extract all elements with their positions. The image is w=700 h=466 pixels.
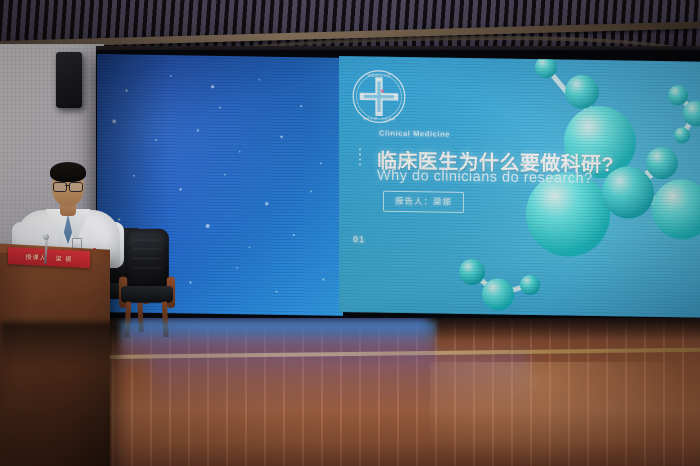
hospital-emblem-logo: 安徽医科大学 滁州市第一人民医院 — [351, 68, 407, 125]
slide-title-english: Why do clinicians do research? — [377, 168, 593, 187]
molecule-illustration — [450, 56, 700, 318]
svg-text:滁州市第一人民医院: 滁州市第一人民医院 — [363, 116, 396, 122]
stage-chair-right — [119, 229, 175, 337]
presentation-slide: 安徽医科大学 滁州市第一人民医院 — [339, 56, 700, 318]
slide-eyebrow-label: Clinical Medicine — [379, 129, 450, 139]
chair-backrest — [125, 229, 169, 289]
wall-speaker — [56, 52, 82, 108]
floor-screen-reflection — [118, 322, 436, 374]
slide-presenter-badge: 报告人：梁振 — [383, 191, 464, 213]
eyeglasses-icon — [69, 182, 83, 192]
chair-seat — [121, 286, 173, 303]
slide-page-number: 01 — [353, 234, 365, 244]
presenter-hair — [50, 162, 86, 182]
podium-banner-right-text: 梁 振 — [56, 253, 73, 263]
eyeglasses-bridge — [65, 185, 69, 186]
slide-decor-dots — [359, 148, 361, 165]
floor-podium-reflection — [0, 322, 120, 368]
svg-text:安徽医科大学: 安徽医科大学 — [367, 73, 391, 78]
eyeglasses-icon — [53, 182, 67, 192]
podium-microphone-head — [43, 234, 49, 240]
presentation-scene: 安徽医科大学 滁州市第一人民医院 — [0, 0, 700, 466]
floor-highlight — [430, 362, 690, 466]
